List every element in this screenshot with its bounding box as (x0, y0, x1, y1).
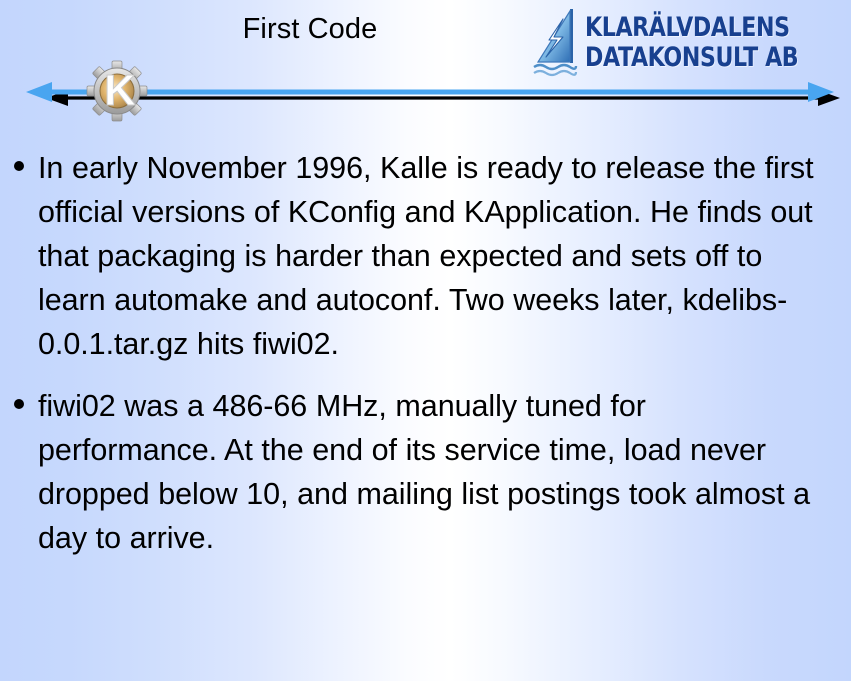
company-name-line1: KLARÄLVDALENS (585, 13, 798, 43)
bullet-marker (0, 384, 38, 428)
page-title: First Code (0, 12, 620, 46)
bullet-marker (0, 146, 38, 190)
list-item: fiwi02 was a 486-66 MHz, manually tuned … (0, 384, 851, 560)
bullet-text: fiwi02 was a 486-66 MHz, manually tuned … (38, 384, 851, 560)
slide-body: In early November 1996, Kalle is ready t… (0, 146, 851, 578)
sail-lightning-bolt-icon (532, 7, 578, 79)
slide-header: First Code (0, 0, 851, 96)
presentation-slide: First Code (0, 0, 851, 681)
kde-k-letter: K (104, 66, 136, 115)
bullet-text: In early November 1996, Kalle is ready t… (38, 146, 851, 366)
company-logo: KLARÄLVDALENS DATAKONSULT AB (532, 4, 845, 82)
list-item: In early November 1996, Kalle is ready t… (0, 146, 851, 366)
kde-gear-k-icon: K (86, 60, 148, 122)
company-wordmark: KLARÄLVDALENS DATAKONSULT AB (585, 13, 845, 73)
company-name-line2: DATAKONSULT AB (585, 43, 798, 73)
